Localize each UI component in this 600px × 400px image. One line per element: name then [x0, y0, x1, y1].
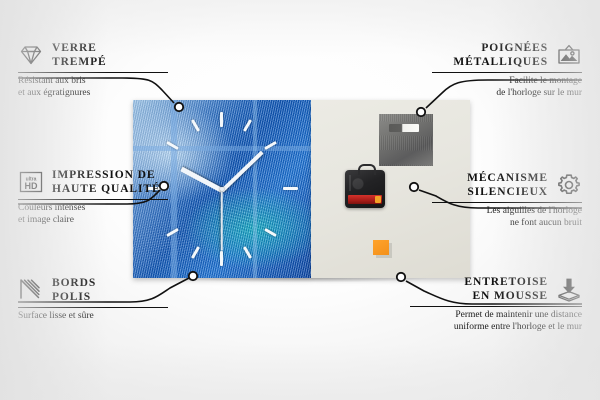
feature-title: BORDS POLIS — [52, 276, 96, 304]
hour-marker — [283, 187, 298, 190]
feature-divider — [432, 202, 582, 203]
second-hand — [221, 190, 223, 250]
feature-header: ENTRETOISE EN MOUSSE — [410, 275, 582, 303]
feature-divider — [18, 72, 168, 73]
feature-title: POIGNÉES MÉTALLIQUES — [453, 41, 548, 69]
feature-mecanisme-silencieux: MÉCANISME SILENCIEUX Les aiguilles de l'… — [432, 171, 582, 229]
feature-title: IMPRESSION DE HAUTE QUALITÉ — [52, 168, 161, 196]
ultra-hd-icon: ultra HD — [18, 169, 44, 195]
metal-hanger — [379, 114, 433, 166]
feature-description: Résistant aux bris et aux égratignures — [18, 76, 168, 99]
feature-header: POIGNÉES MÉTALLIQUES — [432, 41, 582, 69]
feature-description: Facilite le montage de l'horloge sur le … — [432, 76, 582, 99]
feature-header: MÉCANISME SILENCIEUX — [432, 171, 582, 199]
feature-divider — [410, 306, 582, 307]
feature-title: VERRE TREMPÉ — [52, 41, 107, 69]
feature-verre-trempe: VERRE TREMPÉ Résistant aux bris et aux é… — [18, 41, 168, 99]
feature-divider — [18, 307, 168, 308]
product-feature-infographic: VERRE TREMPÉ Résistant aux bris et aux é… — [0, 0, 600, 400]
product-image — [133, 100, 470, 278]
feature-header: BORDS POLIS — [18, 276, 168, 304]
diamond-icon — [18, 42, 44, 68]
feature-description: Permet de maintenir une distance uniform… — [410, 310, 582, 333]
feature-title: ENTRETOISE EN MOUSSE — [464, 275, 548, 303]
foam-spacer — [373, 240, 389, 255]
mechanism-detail — [349, 175, 379, 191]
hanger-slot — [389, 124, 419, 132]
feature-divider — [432, 72, 582, 73]
feature-description: Surface lisse et sûre — [18, 311, 168, 323]
feature-title: MÉCANISME SILENCIEUX — [467, 171, 548, 199]
feature-entretoise-en-mousse: ENTRETOISE EN MOUSSE Permet de maintenir… — [410, 275, 582, 333]
hour-marker — [220, 251, 223, 266]
hour-marker — [220, 112, 223, 127]
feature-header: VERRE TREMPÉ — [18, 41, 168, 69]
clock-center-pin — [220, 187, 224, 191]
battery — [348, 195, 382, 204]
feature-bords-polis: BORDS POLIS Surface lisse et sûre — [18, 276, 168, 323]
framed-picture-hook-icon — [556, 42, 582, 68]
svg-text:HD: HD — [25, 181, 38, 191]
quartz-mechanism — [345, 170, 385, 208]
feature-header: ultra HD IMPRESSION DE HAUTE QUALITÉ — [18, 168, 168, 196]
feature-divider — [18, 199, 168, 200]
polished-edges-icon — [18, 277, 44, 303]
mechanism-loop — [358, 164, 376, 175]
feature-impression-haute-qualite: ultra HD IMPRESSION DE HAUTE QUALITÉ Cou… — [18, 168, 168, 226]
feature-poignees-metalliques: POIGNÉES MÉTALLIQUES Facilite le montage… — [432, 41, 582, 99]
arrow-down-stack-icon — [556, 276, 582, 302]
feature-description: Couleurs intenses et image claire — [18, 203, 168, 226]
gear-icon — [556, 172, 582, 198]
feature-description: Les aiguilles de l'horloge ne font aucun… — [432, 206, 582, 229]
